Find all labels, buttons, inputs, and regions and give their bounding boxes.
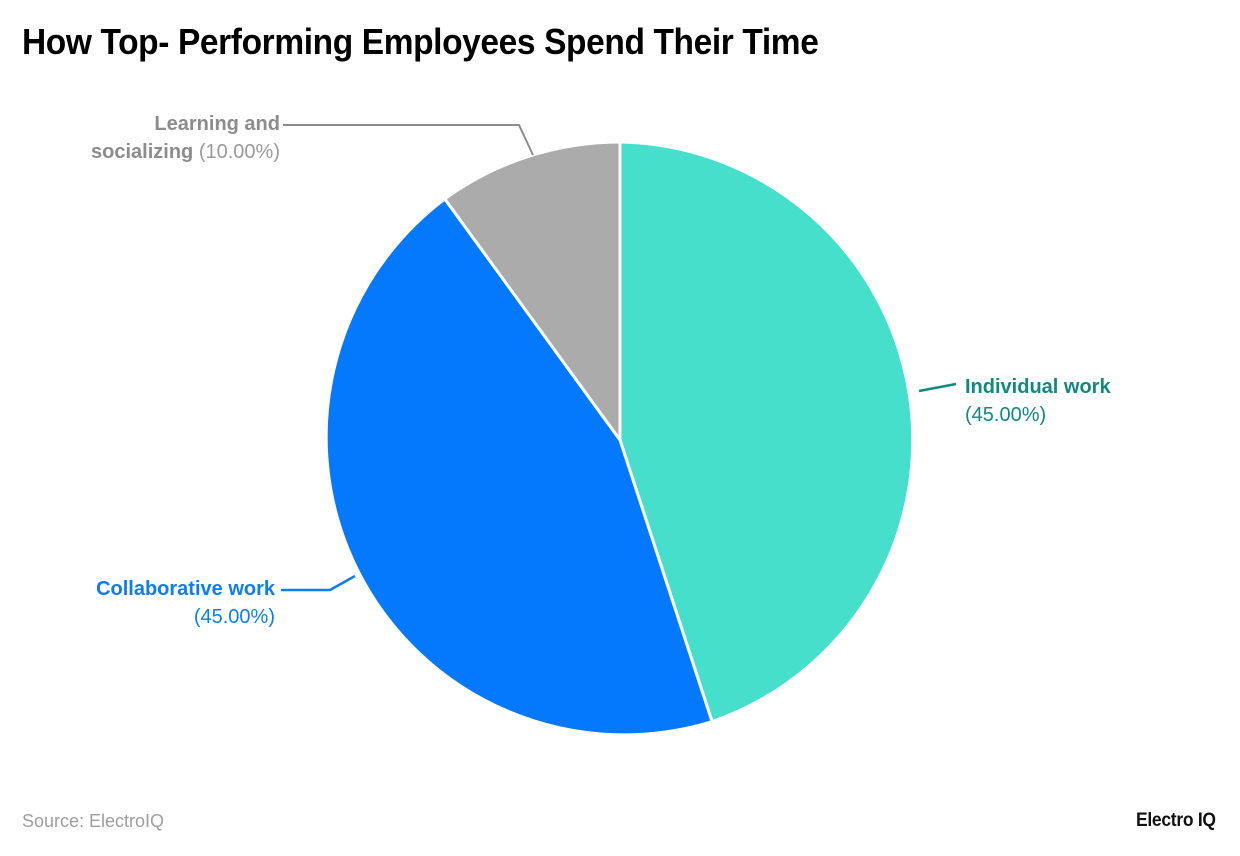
leader-line-individual-work xyxy=(919,384,956,391)
pie-label-collaborative-work: Collaborative work (45.00%) xyxy=(20,575,275,631)
pie-label-collaborative-work-name: Collaborative work xyxy=(96,578,275,600)
pie-label-learning-and-socializing-name-line1: Learning and xyxy=(154,113,280,135)
pie-label-individual-work-name: Individual work xyxy=(965,376,1111,398)
pie-label-learning-and-socializing: Learning and socializing (10.00%) xyxy=(30,110,280,166)
leader-line-learning-and-socializing xyxy=(283,125,533,155)
pie-label-individual-work-pct: (45.00%) xyxy=(965,404,1046,426)
leader-line-collaborative-work xyxy=(281,576,355,590)
source-caption: Source: ElectroIQ xyxy=(22,811,164,832)
pie-label-learning-and-socializing-name-line2: socializing xyxy=(91,141,193,163)
pie-chart: Learning and socializing (10.00%) Collab… xyxy=(0,0,1240,856)
pie-label-collaborative-work-pct: (45.00%) xyxy=(194,606,275,628)
pie-label-individual-work: Individual work (45.00%) xyxy=(965,373,1215,429)
brand-logo: Electro IQ xyxy=(1136,810,1216,832)
pie-label-learning-and-socializing-pct: (10.00%) xyxy=(199,141,280,163)
